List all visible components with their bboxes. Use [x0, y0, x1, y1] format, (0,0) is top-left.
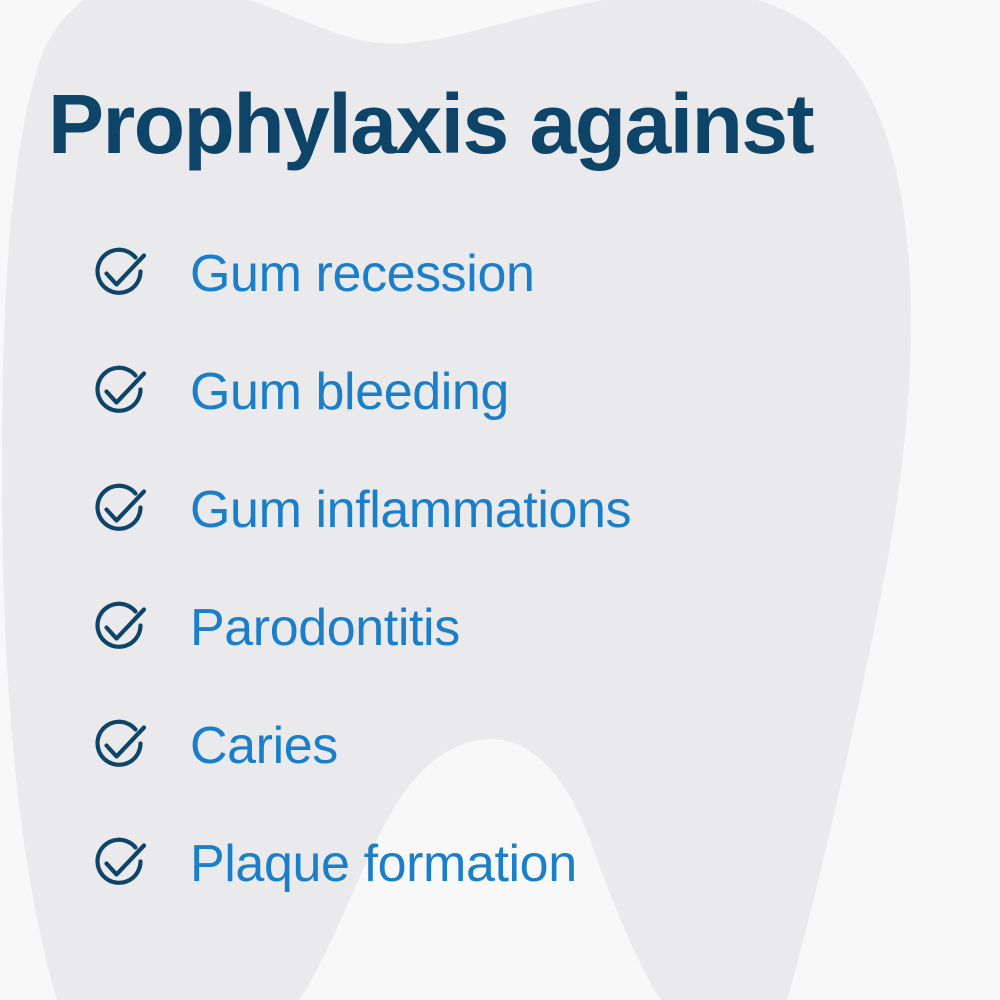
- check-circle-icon: [88, 479, 150, 541]
- content-layer: Prophylaxis against Gum recession Gum bl…: [0, 0, 1000, 1000]
- benefit-list: Gum recession Gum bleeding Gum inflammat…: [0, 232, 1000, 940]
- check-circle-icon: [88, 833, 150, 895]
- infographic-card: Prophylaxis against Gum recession Gum bl…: [0, 0, 1000, 1000]
- check-circle-icon: [88, 361, 150, 423]
- list-item-label: Plaque formation: [190, 822, 577, 906]
- list-item: Gum bleeding: [0, 350, 1000, 468]
- list-item-label: Caries: [190, 704, 338, 788]
- check-circle-icon: [88, 715, 150, 777]
- check-circle-icon: [88, 243, 150, 305]
- list-item-label: Parodontitis: [190, 586, 460, 670]
- page-title: Prophylaxis against: [48, 76, 978, 172]
- check-circle-icon: [88, 597, 150, 659]
- list-item: Parodontitis: [0, 586, 1000, 704]
- list-item: Gum recession: [0, 232, 1000, 350]
- list-item: Caries: [0, 704, 1000, 822]
- list-item-label: Gum inflammations: [190, 468, 631, 552]
- list-item: Gum inflammations: [0, 468, 1000, 586]
- list-item-label: Gum bleeding: [190, 350, 509, 434]
- list-item: Plaque formation: [0, 822, 1000, 940]
- list-item-label: Gum recession: [190, 232, 534, 316]
